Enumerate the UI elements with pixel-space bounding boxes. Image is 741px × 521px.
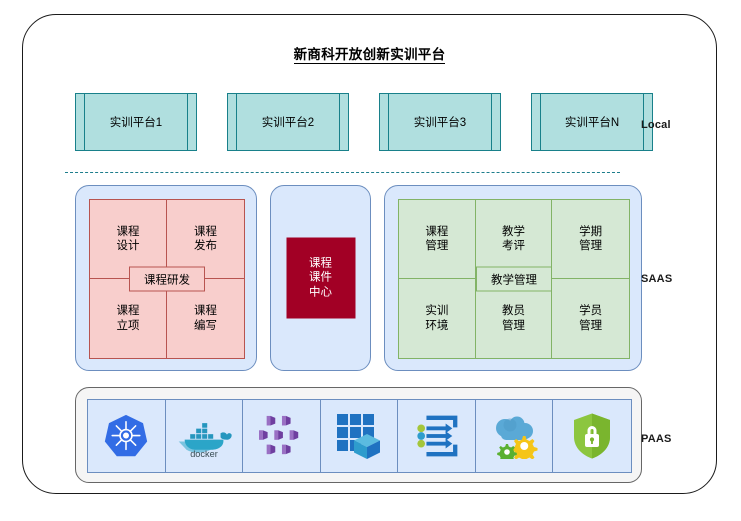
paas-technology-strip: docker (87, 399, 632, 473)
cell-line-2: 编写 (194, 319, 217, 333)
local-platform-1[interactable]: 实训平台1 (75, 93, 197, 151)
paas-tech-virtualization[interactable] (321, 400, 399, 472)
course-rd-panel: 课程 设计 课程 发布 课程 立项 课程 编写 课程研发 (75, 185, 257, 371)
cell-line-2: 考评 (502, 239, 525, 253)
courseware-center-panel: 课程 课件 中心 (270, 185, 371, 371)
local-platform-n[interactable]: 实训平台N (531, 93, 653, 151)
layer-label-paas: PAAS (641, 433, 672, 445)
paas-layer-panel: docker (75, 387, 642, 483)
teaching-mgmt-center-label: 教学管理 (491, 271, 537, 287)
cell-line-1: 教学 (502, 225, 525, 239)
layer-label-saas: SAAS (641, 273, 672, 285)
teaching-mgmt-grid: 课程 管理 教学 考评 学期 管理 实训 环境 教员 管理 学员 管理 (398, 199, 630, 359)
local-platform-2-label: 实训平台2 (262, 114, 314, 130)
teaching-mgmt-cell-student[interactable]: 学员 管理 (552, 279, 629, 358)
cloud-gears-icon (488, 413, 540, 459)
teaching-mgmt-panel: 课程 管理 教学 考评 学期 管理 实训 环境 教员 管理 学员 管理 (384, 185, 642, 371)
paas-tech-cloud-services[interactable] (476, 400, 554, 472)
cell-line-2: 管理 (579, 239, 602, 253)
cell-line-2: 环境 (425, 319, 448, 333)
cell-line-2: 立项 (117, 319, 140, 333)
local-platform-n-label: 实训平台N (565, 114, 619, 130)
page-title: 新商科开放创新实训平台 (23, 43, 716, 63)
cell-line-1: 课程 (194, 304, 217, 318)
local-layer-row: 实训平台1 实训平台2 实训平台3 实训平台N (75, 93, 616, 151)
cell-line-2: 管理 (502, 319, 525, 333)
cell-line-1: 课程 (117, 304, 140, 318)
cell-line-1: 课程 (117, 225, 140, 239)
cell-line-2: 发布 (194, 239, 217, 253)
course-rd-center-label: 课程研发 (144, 271, 190, 287)
local-platform-2[interactable]: 实训平台2 (227, 93, 349, 151)
paas-tech-docker[interactable]: docker (166, 400, 244, 472)
architecture-diagram-container: 新商科开放创新实训平台 实训平台1 实训平台2 实训平台3 实训平台N Loca… (22, 14, 717, 494)
teaching-mgmt-cell-environment[interactable]: 实训 环境 (399, 279, 476, 358)
course-rd-grid: 课程 设计 课程 发布 课程 立项 课程 编写 课程研发 (89, 199, 245, 359)
cell-line-1: 实训 (425, 304, 448, 318)
cell-line-1: 课程 (194, 225, 217, 239)
cell-line-2: 管理 (425, 239, 448, 253)
teaching-mgmt-cell-semester[interactable]: 学期 管理 (552, 200, 629, 279)
courseware-line-1: 课程 (309, 257, 332, 271)
paas-tech-security[interactable] (553, 400, 631, 472)
courseware-line-2: 课件 (309, 271, 332, 285)
workflow-pipeline-icon (414, 412, 460, 460)
courseware-center-box[interactable]: 课程 课件 中心 (286, 238, 355, 319)
layer-divider-line (65, 172, 620, 173)
teaching-mgmt-cell-course[interactable]: 课程 管理 (399, 200, 476, 279)
local-platform-1-label: 实训平台1 (110, 114, 162, 130)
cell-line-1: 学员 (579, 304, 602, 318)
cell-line-2: 管理 (579, 319, 602, 333)
local-platform-3-label: 实训平台3 (414, 114, 466, 130)
server-cluster-icon (257, 414, 305, 458)
docker-icon: docker (176, 413, 232, 459)
kubernetes-icon (103, 413, 149, 459)
local-platform-3[interactable]: 实训平台3 (379, 93, 501, 151)
page-title-text: 新商科开放创新实训平台 (294, 47, 446, 64)
paas-tech-server-cluster[interactable] (243, 400, 321, 472)
paas-tech-kubernetes[interactable] (88, 400, 166, 472)
layer-label-local: Local (641, 119, 671, 131)
cell-line-1: 学期 (579, 225, 602, 239)
teaching-mgmt-center-chip[interactable]: 教学管理 (476, 267, 552, 292)
courseware-line-3: 中心 (309, 285, 332, 299)
cell-line-1: 教员 (502, 304, 525, 318)
svg-text:docker: docker (190, 449, 218, 459)
virtualization-icon (334, 412, 384, 460)
course-rd-center-chip[interactable]: 课程研发 (129, 267, 205, 292)
cell-line-2: 设计 (117, 239, 140, 253)
cell-line-1: 课程 (425, 225, 448, 239)
security-shield-icon (572, 412, 612, 460)
paas-tech-workflow[interactable] (398, 400, 476, 472)
